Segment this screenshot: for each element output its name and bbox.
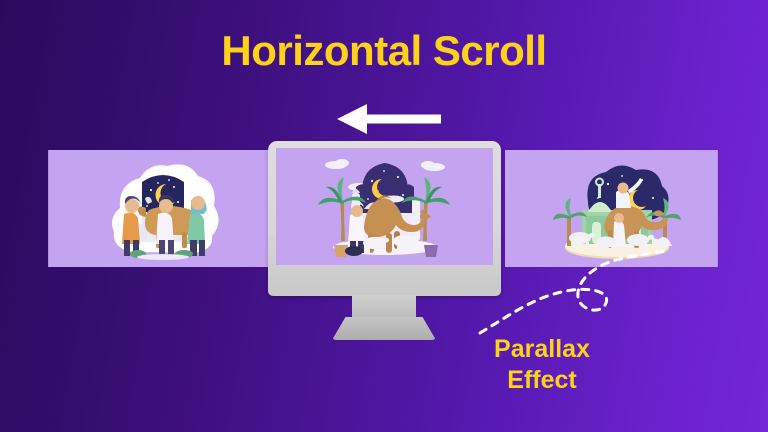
parallax-label-line2: Effect <box>432 365 652 396</box>
page-title: Horizontal Scroll <box>0 26 768 76</box>
family-with-cow-illustration <box>102 156 224 262</box>
scroll-direction-arrow <box>337 103 441 135</box>
slide-panel-left[interactable] <box>48 150 276 267</box>
parallax-label-line1: Parallax <box>432 334 652 365</box>
camel-oasis-illustration <box>312 151 458 263</box>
monitor-screen[interactable] <box>276 148 493 265</box>
slide-canvas: Horizontal Scroll <box>0 0 768 432</box>
parallax-effect-label: Parallax Effect <box>432 334 652 396</box>
monitor-base <box>332 317 436 340</box>
dashed-curve-connector <box>470 245 690 340</box>
